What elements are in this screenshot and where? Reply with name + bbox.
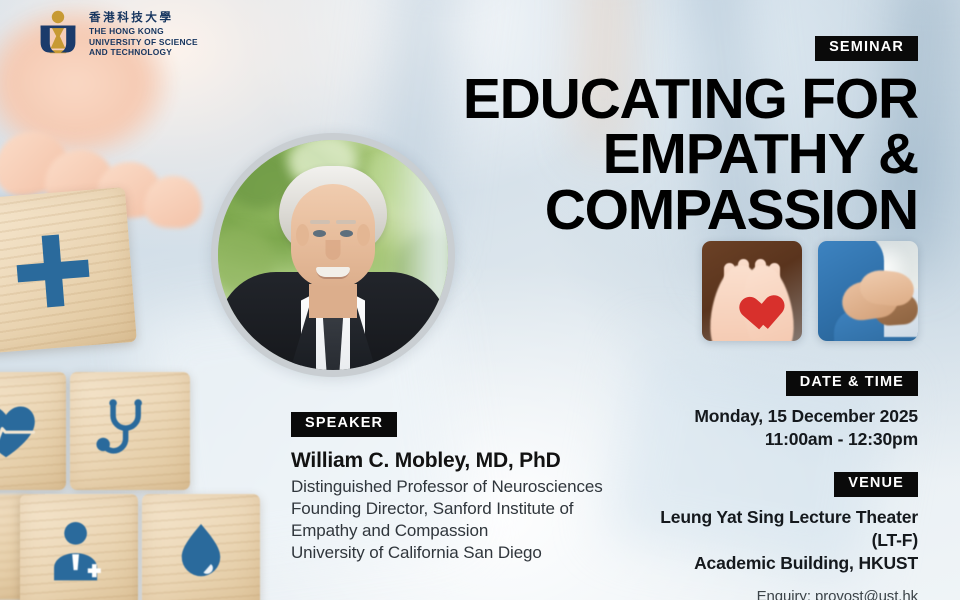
portrait-nose: [326, 240, 341, 260]
venue-details: Leung Yat Sing Lecture Theater (LT-F) Ac…: [588, 506, 918, 575]
hkust-name-chinese: 香港科技大學: [89, 12, 198, 25]
hkust-logo: 香港科技大學 THE HONG KONG UNIVERSITY OF SCIEN…: [36, 10, 198, 60]
hands-holding-red-heart-photo: [702, 241, 802, 341]
portrait-neck: [309, 284, 357, 318]
venue-line-3: Academic Building, HKUST: [588, 552, 918, 575]
event-date: Monday, 15 December 2025: [588, 405, 918, 428]
speaker-affiliation-line-2: Founding Director, Sanford Institute of: [291, 498, 631, 520]
doctor-person-block: [20, 494, 138, 600]
doctor-person-icon: [20, 494, 138, 600]
hkust-name-line2: UNIVERSITY OF SCIENCE: [89, 37, 198, 48]
heartbeat-heart-icon: [0, 372, 66, 490]
stethoscope-icon: [70, 372, 190, 490]
seminar-badge: SEMINAR: [815, 36, 918, 61]
heartbeat-heart-block: [0, 372, 66, 490]
title-line-1: EDUCATING FOR: [298, 72, 918, 127]
venue-badge: VENUE: [834, 472, 918, 497]
event-details-section: DATE & TIME Monday, 15 December 2025 11:…: [588, 371, 918, 600]
water-drop-icon: [142, 494, 260, 600]
hkust-logo-text: 香港科技大學 THE HONG KONG UNIVERSITY OF SCIEN…: [89, 12, 198, 58]
speaker-affiliation-line-1: Distinguished Professor of Neurosciences: [291, 476, 631, 498]
venue-line-2: (LT-F): [588, 529, 918, 552]
hkust-logo-mark: [36, 10, 80, 60]
red-heart-icon: [731, 282, 773, 321]
enquiry-text: Enquiry: provost@ust.hk: [588, 588, 918, 600]
speaker-badge: SPEAKER: [291, 412, 397, 437]
speaker-name: William C. Mobley, MD, PhD: [291, 448, 631, 473]
seminar-poster: 香港科技大學 THE HONG KONG UNIVERSITY OF SCIEN…: [0, 0, 960, 600]
date-time-badge: DATE & TIME: [786, 371, 918, 396]
venue-badge-wrapper: VENUE: [588, 472, 918, 497]
medical-cross-block: [0, 187, 137, 354]
title-line-2: EMPATHY &: [298, 127, 918, 182]
speaker-affiliation: Distinguished Professor of Neurosciences…: [291, 476, 631, 564]
seminar-badge-wrapper: SEMINAR: [815, 36, 918, 61]
date-time-details: Monday, 15 December 2025 11:00am - 12:30…: [588, 405, 918, 451]
caregiver-holding-hands-photo: [818, 241, 918, 341]
page-title: EDUCATING FOR EMPATHY & COMPASSION: [298, 72, 918, 238]
stethoscope-block: [70, 372, 190, 490]
medical-cross-icon: [0, 187, 137, 354]
speaker-affiliation-line-3: Empathy and Compassion: [291, 520, 631, 542]
water-drop-block: [142, 494, 260, 600]
title-line-3: COMPASSION: [298, 183, 918, 238]
portrait-mouth: [316, 267, 350, 279]
venue-line-1: Leung Yat Sing Lecture Theater: [588, 506, 918, 529]
event-time: 11:00am - 12:30pm: [588, 428, 918, 451]
hkust-name-line1: THE HONG KONG: [89, 26, 198, 37]
hkust-name-line3: AND TECHNOLOGY: [89, 47, 198, 58]
speaker-section: SPEAKER William C. Mobley, MD, PhD Disti…: [291, 412, 631, 564]
speaker-affiliation-line-4: University of California San Diego: [291, 542, 631, 564]
